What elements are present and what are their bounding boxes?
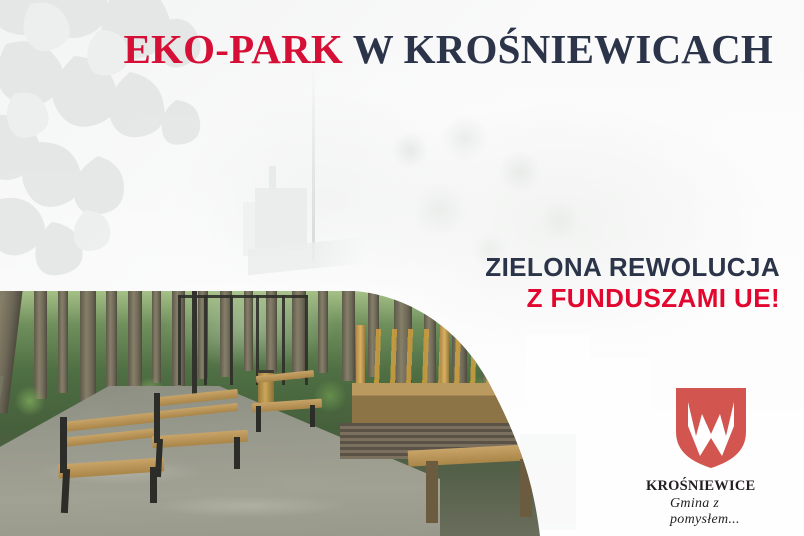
municipality-logo: KROŚNIEWICE Gmina z pomysłem... bbox=[646, 386, 786, 528]
krosniewice-coat-of-arms-icon bbox=[674, 386, 748, 470]
wooden-post bbox=[440, 323, 449, 391]
page-title: EKO-PARK W KROŚNIEWICACH bbox=[0, 28, 773, 71]
tagline-line-2: Z FUNDUSZAMI UE! bbox=[485, 283, 780, 314]
title-rest: W KROŚNIEWICACH bbox=[343, 26, 773, 72]
municipality-slogan: Gmina z pomysłem... bbox=[670, 496, 786, 528]
park-bench bbox=[152, 393, 248, 467]
park-bench bbox=[58, 417, 164, 499]
municipality-name: KROŚNIEWICE bbox=[646, 478, 786, 495]
lamp-post bbox=[192, 283, 197, 401]
tagline-line-1: ZIELONA REWOLUCJA bbox=[485, 252, 780, 283]
wooden-post bbox=[356, 325, 365, 391]
title-highlight: EKO-PARK bbox=[124, 26, 344, 72]
tagline: ZIELONA REWOLUCJA Z FUNDUSZAMI UE! bbox=[485, 252, 780, 313]
poster: EKO-PARK W KROŚNIEWICACH ZIELONA REWOLUC… bbox=[0, 0, 804, 536]
background-pole bbox=[312, 60, 315, 260]
park-bench bbox=[252, 373, 322, 429]
metal-railing bbox=[178, 295, 308, 385]
